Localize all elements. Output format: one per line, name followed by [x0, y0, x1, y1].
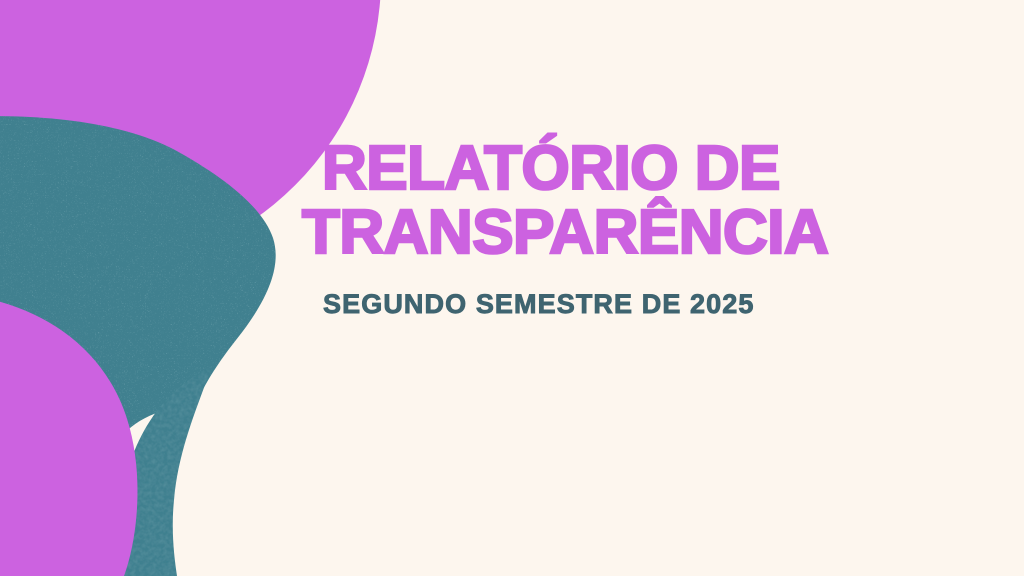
slide-canvas: RELATÓRIO DE TRANSPARÊNCIA SEGUNDO SEMES… — [0, 0, 1024, 576]
title-line-1: RELATÓRIO DE — [300, 140, 920, 198]
subtitle: SEGUNDO SEMESTRE DE 2025 — [323, 289, 920, 320]
title-line-2: TRANSPARÊNCIA — [300, 204, 920, 262]
title-block: RELATÓRIO DE TRANSPARÊNCIA SEGUNDO SEMES… — [300, 140, 920, 320]
